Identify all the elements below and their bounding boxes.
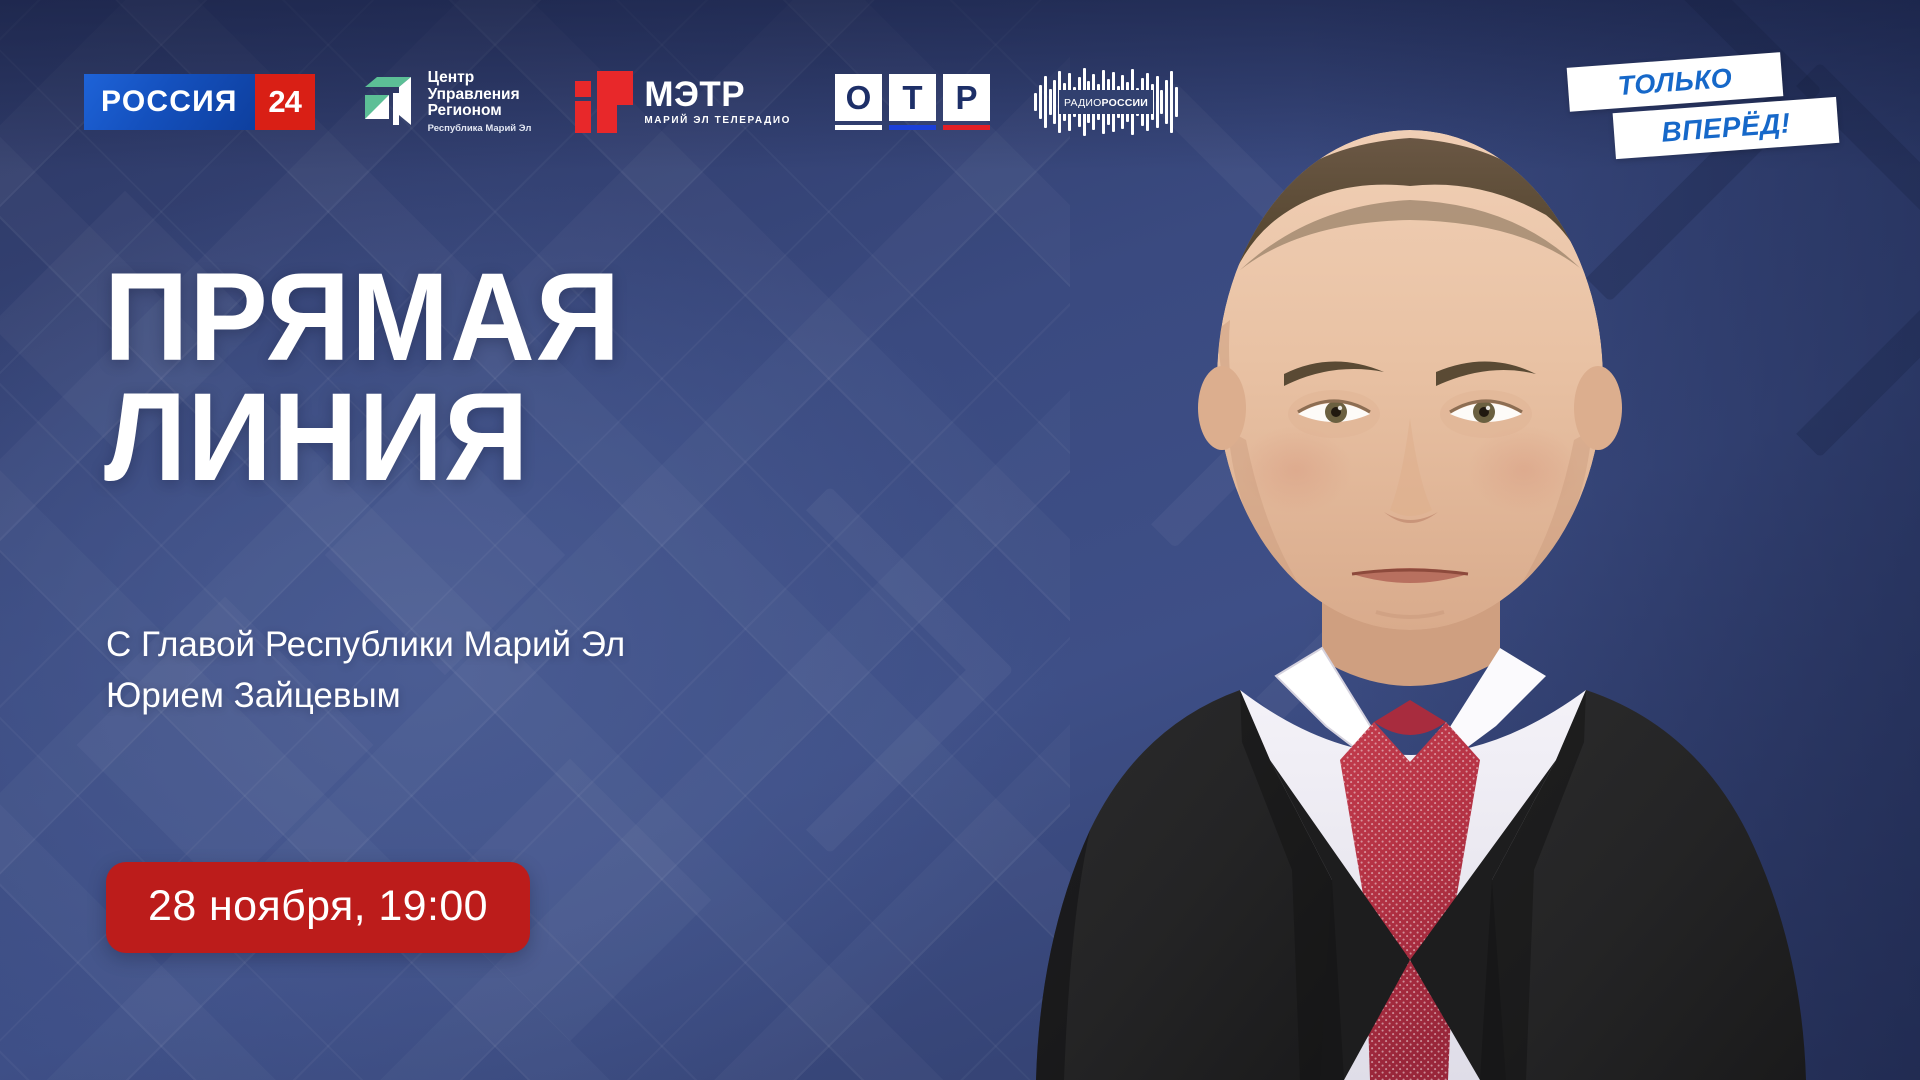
otr-bar-white — [835, 125, 882, 130]
metr-name: МЭТР — [644, 78, 791, 111]
subtitle-line-1: С Главой Республики Марий Эл — [106, 620, 625, 671]
logo-otr: О Т Р — [835, 74, 990, 130]
headline-line-2: ЛИНИЯ — [104, 378, 621, 498]
logo-cur: Центр Управления Регионом Республика Мар… — [359, 70, 532, 133]
logo-rossiya-24: РОССИЯ 24 — [84, 74, 315, 130]
slogan-badge: ТОЛЬКО ВПЕРЁД! — [1562, 52, 1862, 158]
metr-wordmark: МЭТР МАРИЙ ЭЛ ТЕЛЕРАДИО — [644, 78, 791, 125]
date-time-badge: 28 ноября, 19:00 — [106, 862, 530, 953]
date-time-text: 28 ноября, 19:00 — [148, 882, 488, 930]
otr-cell: Р — [943, 74, 990, 130]
radio-waveform-bar — [1170, 71, 1173, 133]
otr-letter: Т — [902, 81, 922, 114]
radio-label-thin: РАДИО — [1064, 97, 1101, 109]
cur-line-2: Управления — [428, 87, 532, 103]
metr-subtitle: МАРИЙ ЭЛ ТЕЛЕРАДИО — [644, 115, 791, 126]
slogan-line-2: ВПЕРЁД! — [1660, 107, 1791, 148]
otr-bar-blue — [889, 125, 936, 130]
otr-cell: Т — [889, 74, 936, 130]
otr-letter: Р — [956, 81, 978, 114]
headline-line-1: ПРЯМАЯ — [104, 258, 621, 378]
radio-waveform-bar — [1165, 80, 1168, 124]
otr-bar-red — [943, 125, 990, 130]
cur-cube-icon — [359, 73, 417, 131]
metr-blocks-icon — [575, 71, 633, 133]
slogan-line-1: ТОЛЬКО — [1617, 62, 1734, 101]
radio-waveform-bar — [1039, 85, 1042, 119]
cur-line-1: Центр — [428, 70, 532, 86]
subtitle-line-2: Юрием Зайцевым — [106, 671, 625, 722]
otr-letter-box: О — [835, 74, 882, 121]
rossiya-24-number-box: 24 — [255, 74, 315, 130]
banner-stage: РОССИЯ 24 Центр Управления Регионом Респ… — [0, 0, 1920, 1080]
radio-label-bold: РОССИИ — [1102, 97, 1149, 109]
cur-line-3: Регионом — [428, 103, 532, 119]
radio-waveform-bar — [1034, 93, 1037, 111]
slogan-strip-bottom: ВПЕРЁД! — [1613, 97, 1840, 159]
radio-waveform-bar — [1175, 87, 1178, 117]
rossiya-wordmark: РОССИЯ — [101, 85, 238, 119]
otr-cell: О — [835, 74, 882, 130]
radio-waveform-bar — [1044, 76, 1047, 128]
radio-waveform-bar — [1160, 90, 1163, 114]
otr-letter-box: Т — [889, 74, 936, 121]
logo-radio-rossii: РАДИОРОССИИ — [1034, 66, 1178, 138]
otr-letter: О — [846, 81, 872, 114]
subtitle: С Главой Республики Марий Эл Юрием Зайце… — [106, 620, 625, 722]
radio-waveform-bar — [1049, 89, 1052, 115]
page-title: ПРЯМАЯ ЛИНИЯ — [104, 258, 654, 498]
portrait-photo — [940, 0, 1920, 1080]
radio-waveform-bar — [1156, 76, 1159, 128]
rossiya-wordmark-box: РОССИЯ — [84, 74, 255, 130]
radio-rossii-wordmark: РАДИОРОССИИ — [1059, 90, 1153, 114]
rossiya-24-number: 24 — [268, 84, 300, 120]
broadcaster-logo-bar: РОССИЯ 24 Центр Управления Регионом Респ… — [84, 66, 1178, 138]
logo-metr: МЭТР МАРИЙ ЭЛ ТЕЛЕРАДИО — [575, 71, 791, 133]
cur-subtitle: Республика Марий Эл — [428, 124, 532, 134]
cur-wordmark: Центр Управления Регионом Республика Мар… — [428, 70, 532, 133]
radio-waveform-bar — [1053, 80, 1056, 124]
otr-letter-box: Р — [943, 74, 990, 121]
